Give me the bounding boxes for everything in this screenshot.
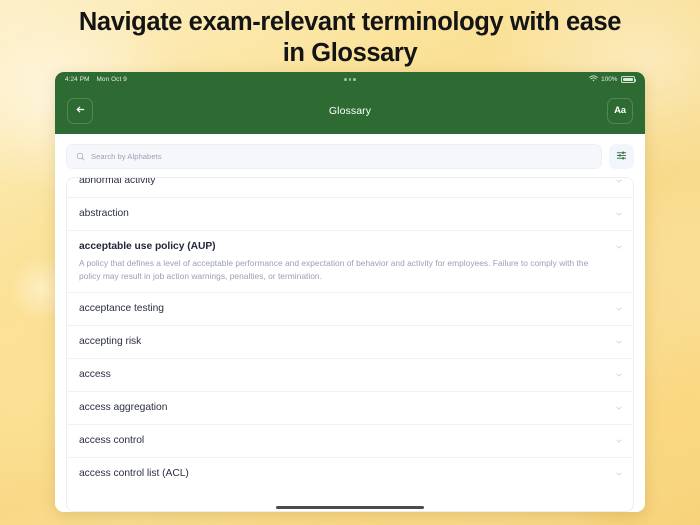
page-title: Navigate exam-relevant terminology with … bbox=[0, 7, 700, 69]
chevron-down-icon[interactable] bbox=[615, 305, 623, 313]
glossary-item[interactable]: accepting risk bbox=[67, 326, 633, 359]
wifi-icon bbox=[589, 75, 598, 84]
glossary-term: abnormal activity bbox=[79, 178, 613, 188]
nav-title: Glossary bbox=[55, 105, 645, 117]
glossary-term: access control bbox=[79, 434, 613, 448]
status-time: 4:24 PM bbox=[65, 76, 90, 83]
battery-percent-label: 100% bbox=[601, 76, 617, 83]
glossary-item[interactable]: access bbox=[67, 359, 633, 392]
dynamic-island-dots-icon bbox=[55, 72, 645, 87]
tablet-device-frame: 4:24 PM Mon Oct 9 100% bbox=[55, 72, 645, 512]
chevron-down-icon[interactable] bbox=[615, 437, 623, 445]
chevron-down-icon[interactable] bbox=[615, 404, 623, 412]
battery-icon bbox=[621, 76, 635, 83]
glossary-item[interactable]: abstraction bbox=[67, 198, 633, 231]
glossary-item[interactable]: acceptance testing bbox=[67, 293, 633, 326]
chevron-down-icon[interactable] bbox=[615, 470, 623, 478]
glossary-term: acceptable use policy (AUP) bbox=[79, 240, 613, 254]
glossary-scroll-viewport[interactable]: abnormal activityabstractionacceptable u… bbox=[67, 178, 633, 511]
glossary-item[interactable]: abnormal activity bbox=[67, 178, 633, 198]
glossary-item[interactable]: acceptable use policy (AUP)A policy that… bbox=[67, 231, 633, 293]
font-size-label: Aa bbox=[614, 105, 626, 116]
headline-line-2: in Glossary bbox=[0, 38, 700, 69]
back-arrow-icon bbox=[75, 102, 86, 120]
home-indicator bbox=[276, 506, 424, 509]
status-date: Mon Oct 9 bbox=[97, 76, 127, 83]
glossary-list-card: abnormal activityabstractionacceptable u… bbox=[66, 177, 634, 512]
chevron-down-icon[interactable] bbox=[615, 371, 623, 379]
glossary-item[interactable]: access control bbox=[67, 425, 633, 458]
app-screen: abnormal activityabstractionacceptable u… bbox=[55, 134, 645, 512]
filter-sliders-icon bbox=[616, 148, 627, 166]
glossary-term: access aggregation bbox=[79, 401, 613, 415]
search-box[interactable] bbox=[66, 144, 602, 169]
glossary-term: acceptance testing bbox=[79, 302, 613, 316]
glossary-term: abstraction bbox=[79, 207, 613, 221]
headline-line-1: Navigate exam-relevant terminology with … bbox=[79, 8, 621, 36]
glossary-item[interactable]: access aggregation bbox=[67, 392, 633, 425]
search-row bbox=[66, 144, 634, 169]
chevron-down-icon[interactable] bbox=[615, 338, 623, 346]
glossary-list: abnormal activityabstractionacceptable u… bbox=[67, 178, 633, 490]
chevron-down-icon[interactable] bbox=[615, 243, 623, 251]
glossary-definition: A policy that defines a level of accepta… bbox=[79, 257, 613, 283]
glossary-term: access control list (ACL) bbox=[79, 467, 613, 481]
chevron-down-icon[interactable] bbox=[615, 178, 623, 185]
filter-button[interactable] bbox=[609, 144, 634, 169]
search-icon bbox=[76, 148, 85, 166]
app-nav-bar: Glossary Aa bbox=[55, 87, 645, 134]
search-input[interactable] bbox=[91, 152, 592, 161]
glossary-item[interactable]: access control list (ACL) bbox=[67, 458, 633, 490]
chevron-down-icon[interactable] bbox=[615, 210, 623, 218]
status-bar-right: 100% bbox=[589, 75, 635, 84]
back-button[interactable] bbox=[67, 98, 93, 124]
status-bar-left: 4:24 PM Mon Oct 9 bbox=[65, 76, 127, 83]
font-size-button[interactable]: Aa bbox=[607, 98, 633, 124]
status-bar: 4:24 PM Mon Oct 9 100% bbox=[55, 72, 645, 87]
glossary-term: access bbox=[79, 368, 613, 382]
glossary-term: accepting risk bbox=[79, 335, 613, 349]
